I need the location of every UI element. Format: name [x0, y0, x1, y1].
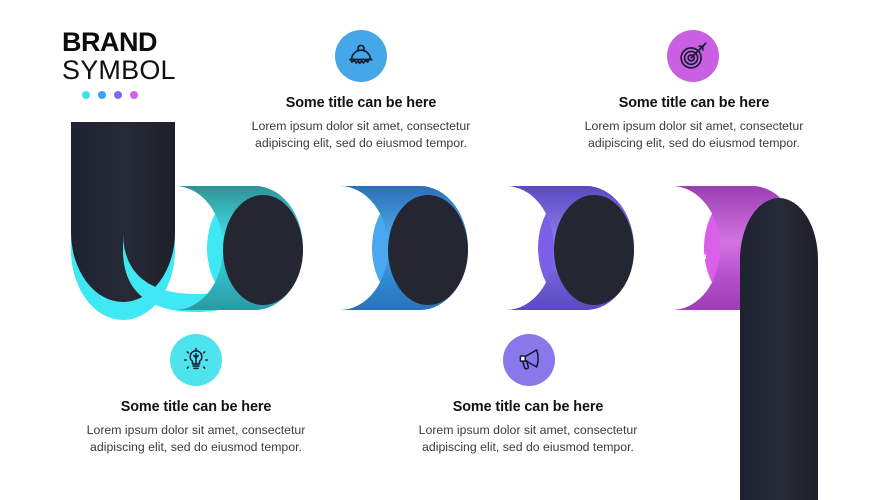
step-desc-2: Lorem ipsum dolor sit amet, consectetur … — [236, 118, 486, 153]
megaphone-icon — [515, 346, 543, 374]
step-title-3: Some title can be here — [403, 398, 653, 416]
loop-group-4 — [672, 186, 800, 310]
step-icon-safety-helmet[interactable] — [335, 30, 387, 82]
brand-logo: BRAND SYMBOL — [62, 28, 252, 99]
loop-group-3 — [506, 186, 634, 310]
logo-line-symbol: SYMBOL — [62, 56, 252, 84]
logo-dot-1 — [82, 91, 90, 99]
step-desc-3: Lorem ipsum dolor sit amet, consectetur … — [403, 422, 653, 457]
step-text-block-2: Some title can be here Lorem ipsum dolor… — [236, 94, 486, 153]
infographic-canvas: BRAND SYMBOL — [0, 0, 889, 500]
lightbulb-icon — [182, 346, 210, 374]
step-title-1: Some title can be here — [71, 398, 321, 416]
ribbon-connectors — [121, 186, 175, 310]
logo-dots — [62, 91, 252, 99]
step-text-block-3: Some title can be here Lorem ipsum dolor… — [403, 398, 653, 457]
logo-line-brand: BRAND — [62, 28, 252, 56]
step-number-3: 3 — [516, 226, 540, 275]
step-icon-lightbulb[interactable] — [170, 334, 222, 386]
step-desc-4: Lorem ipsum dolor sit amet, consectetur … — [569, 118, 819, 153]
logo-dot-3 — [114, 91, 122, 99]
ribbon-edge-1 — [123, 232, 268, 312]
step-icon-target-arrow[interactable] — [667, 30, 719, 82]
logo-dot-2 — [98, 91, 106, 99]
step-title-4: Some title can be here — [569, 94, 819, 112]
logo-dot-4 — [130, 91, 138, 99]
ribbon-band-1-fill — [121, 190, 271, 304]
loop-group-1 — [175, 186, 303, 310]
step-icon-megaphone[interactable] — [503, 334, 555, 386]
loop-group-2 — [340, 186, 468, 310]
step-number-1: 1 — [184, 226, 208, 275]
step-text-block-1: Some title can be here Lorem ipsum dolor… — [71, 398, 321, 457]
step-number-4: 4 — [682, 226, 707, 275]
step-desc-1: Lorem ipsum dolor sit amet, consectetur … — [71, 422, 321, 457]
ribbon-edge-left — [71, 232, 175, 320]
safety-helmet-icon — [347, 42, 375, 70]
ribbon-right-tail — [740, 198, 818, 500]
step-number-2: 2 — [350, 226, 374, 275]
ribbon-left-tail — [71, 122, 175, 315]
target-arrow-icon — [678, 41, 708, 71]
step-title-2: Some title can be here — [236, 94, 486, 112]
step-text-block-4: Some title can be here Lorem ipsum dolor… — [569, 94, 819, 153]
